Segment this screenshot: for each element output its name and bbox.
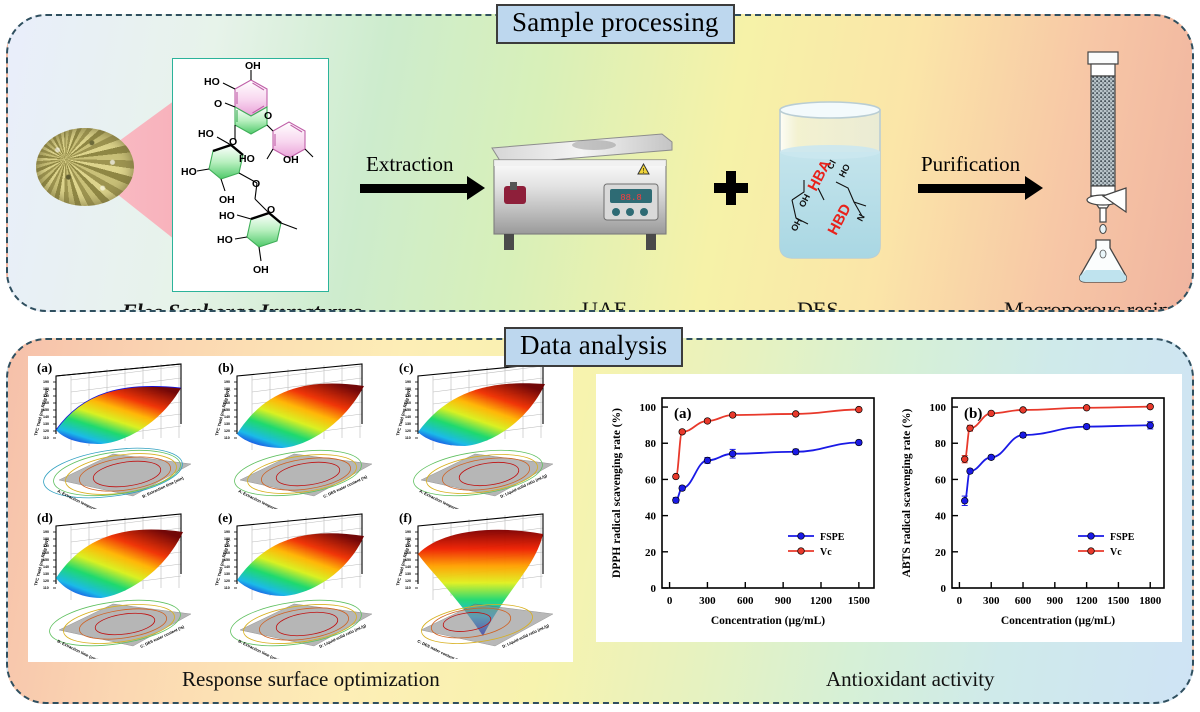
x-tick-label: 600 — [1015, 595, 1032, 607]
data-point — [673, 473, 680, 480]
svg-text:120: 120 — [224, 579, 230, 583]
data-point — [792, 411, 799, 418]
rsm-plot-f: (f) — [393, 508, 571, 659]
data-point — [679, 429, 686, 436]
data-point — [679, 485, 686, 492]
data-point — [1147, 403, 1154, 410]
ultrasonic-bath-icon: ! 88.8 — [486, 124, 676, 254]
y-tick-label: 60 — [935, 474, 947, 486]
step-label-uae: UAE — [582, 297, 627, 312]
svg-text:190: 190 — [224, 380, 230, 384]
svg-text:110: 110 — [405, 436, 411, 440]
y-tick-label: 0 — [651, 583, 657, 595]
dpph-chart: 020406080100030060090012001500Concentrat… — [604, 382, 885, 634]
svg-text:140: 140 — [405, 565, 411, 569]
rsm-plot-d: (d) 190180170 160150140 130120110 TFC Yi… — [31, 508, 209, 659]
svg-text:110: 110 — [43, 436, 49, 440]
data-point — [704, 457, 711, 464]
svg-text:130: 130 — [405, 422, 411, 426]
panel-tag: (b) — [964, 406, 982, 422]
svg-text:130: 130 — [43, 422, 49, 426]
legend-label: Vc — [1110, 547, 1122, 558]
legend-label: FSPE — [1110, 532, 1135, 543]
x-tick-label: 300 — [699, 595, 716, 607]
data-point — [1147, 422, 1154, 429]
svg-text:!: ! — [642, 167, 644, 175]
x-tick-label: 0 — [667, 595, 673, 607]
rsm-xlabel-a: A: Extraction temperature (°C) — [57, 488, 111, 509]
rsm-tag-a: (a) — [37, 360, 52, 376]
rsm-xlabel-b: A: Extraction temperature (°C) — [238, 488, 292, 509]
rsm-tag-d: (d) — [37, 510, 53, 526]
data-point — [856, 439, 863, 446]
purification-arrow-label: Purification — [921, 152, 1020, 177]
extraction-arrow-icon — [360, 184, 468, 193]
structure-label: HO — [181, 166, 197, 178]
svg-text:130: 130 — [43, 572, 49, 576]
rsm-xlabel-f: C: DES water content (%) — [417, 638, 463, 659]
graphical-abstract: OH HO O O O HO HO OH O HO OH HO O HO OH — [0, 0, 1200, 712]
plus-icon — [714, 171, 748, 205]
structure-label: O — [214, 98, 222, 110]
y-tick-label: 80 — [645, 438, 657, 450]
rsm-tag-c: (c) — [399, 360, 413, 376]
x-tick-label: 900 — [775, 595, 792, 607]
antioxidant-caption: Antioxidant activity — [826, 667, 995, 692]
x-tick-label: 1800 — [1139, 595, 1162, 607]
rsm-tag-b: (b) — [218, 360, 234, 376]
svg-text:120: 120 — [224, 429, 230, 433]
svg-text:140: 140 — [224, 415, 230, 419]
sample-processing-panel: OH HO O O O HO HO OH O HO OH HO O HO OH — [6, 14, 1194, 312]
structure-label: HO — [219, 210, 235, 222]
svg-text:190: 190 — [224, 530, 230, 534]
abts-chart: 0204060801000300600900120015001800Concen… — [894, 382, 1175, 634]
data-point — [1020, 407, 1027, 414]
chromatography-column-icon — [1060, 48, 1146, 286]
data-point — [961, 497, 968, 504]
svg-text:88.8: 88.8 — [620, 193, 642, 203]
svg-text:130: 130 — [405, 572, 411, 576]
svg-text:110: 110 — [43, 586, 49, 590]
response-surface-card: (a) — [28, 356, 573, 662]
rsm-plot-c: (c) 190180170 160150140 130120110 TFC Yi… — [393, 358, 571, 509]
structure-label: HO — [217, 234, 233, 246]
legend-label: FSPE — [820, 532, 845, 543]
chemical-structure-box: OH HO O O O HO HO OH O HO OH HO O HO OH — [172, 58, 329, 292]
data-point — [792, 448, 799, 455]
step-label-resin: Macroporous resin — [1004, 297, 1170, 312]
structure-label: O — [229, 136, 237, 148]
line-chart-svg: 0204060801000300600900120015001800Concen… — [894, 382, 1175, 634]
svg-text:120: 120 — [405, 579, 411, 583]
structure-label: HO — [198, 128, 214, 140]
x-tick-label: 1200 — [810, 595, 833, 607]
structure-label: OH — [219, 194, 235, 206]
structure-label: OH — [245, 60, 261, 72]
y-tick-label: 20 — [645, 547, 657, 559]
svg-text:120: 120 — [405, 429, 411, 433]
x-axis-title: Concentration (µg/mL) — [1001, 615, 1115, 627]
x-axis-title: Concentration (µg/mL) — [711, 615, 825, 627]
svg-text:120: 120 — [43, 429, 49, 433]
y-tick-label: 40 — [645, 511, 657, 523]
data-point — [856, 406, 863, 413]
x-tick-label: 300 — [983, 595, 1000, 607]
data-point — [729, 450, 736, 457]
svg-text:190: 190 — [43, 380, 49, 384]
beaker-icon: OH OH Cl HO N HBA HBD — [770, 96, 890, 264]
y-tick-label: 40 — [935, 511, 947, 523]
structure-label: O — [264, 110, 272, 122]
panel-tag: (a) — [674, 406, 692, 422]
data-point — [1020, 432, 1027, 439]
svg-text:130: 130 — [224, 422, 230, 426]
data-point — [988, 410, 995, 417]
step-label-des: DES — [797, 297, 839, 312]
y-axis-title: ABTS radical scavenging rate (%) — [901, 409, 913, 578]
structure-label: OH — [253, 264, 269, 276]
antioxidant-card: 020406080100030060090012001500Concentrat… — [596, 374, 1182, 642]
svg-text:110: 110 — [224, 436, 230, 440]
x-tick-label: 1500 — [1107, 595, 1130, 607]
svg-text:140: 140 — [43, 415, 49, 419]
x-tick-label: 1200 — [1076, 595, 1099, 607]
svg-text:140: 140 — [405, 415, 411, 419]
sample-processing-title: Sample processing — [496, 4, 735, 44]
y-tick-label: 80 — [935, 438, 947, 450]
svg-text:110: 110 — [405, 586, 411, 590]
svg-text:120: 120 — [43, 579, 49, 583]
rsm-caption: Response surface optimization — [182, 667, 440, 692]
x-tick-label: 1500 — [848, 595, 871, 607]
data-point — [967, 425, 974, 432]
svg-text:140: 140 — [224, 565, 230, 569]
data-point — [729, 412, 736, 419]
y-tick-label: 100 — [930, 402, 947, 414]
extraction-arrow-label: Extraction — [366, 152, 453, 177]
svg-text:190: 190 — [43, 530, 49, 534]
line-chart-svg: 020406080100030060090012001500Concentrat… — [604, 382, 885, 634]
data-point — [988, 454, 995, 461]
structure-label: O — [267, 204, 275, 216]
data-point — [1083, 423, 1090, 430]
x-tick-label: 600 — [737, 595, 754, 607]
structure-label: OH — [283, 154, 299, 166]
rsm-tag-e: (e) — [218, 510, 232, 526]
data-analysis-title: Data analysis — [504, 327, 683, 367]
purification-arrow-icon — [918, 184, 1026, 193]
y-tick-label: 100 — [640, 402, 657, 414]
data-point — [967, 468, 974, 475]
data-point — [1083, 404, 1090, 411]
svg-text:190: 190 — [405, 530, 411, 534]
rsm-plot-e: (e) 190180170 160150140 130120110 TFC Yi… — [212, 508, 390, 659]
y-tick-label: 0 — [941, 583, 947, 595]
structure-label: O — [252, 178, 260, 190]
powder-blob-icon — [36, 128, 134, 206]
svg-text:190: 190 — [405, 380, 411, 384]
rsm-xlabel-c: A: Extraction temperature (°C) — [419, 488, 473, 509]
step-label-flos: Flos Sophorae Immaturus — [122, 299, 362, 312]
data-point — [673, 497, 680, 504]
x-tick-label: 900 — [1047, 595, 1064, 607]
y-tick-label: 60 — [645, 474, 657, 486]
rsm-tag-f: (f) — [399, 510, 412, 526]
svg-text:110: 110 — [224, 586, 230, 590]
y-axis-title: DPPH radical scavenging rate (%) — [611, 408, 623, 578]
y-tick-label: 20 — [935, 547, 947, 559]
svg-text:130: 130 — [224, 572, 230, 576]
rsm-plot-b: (b) 190180170 160150140 130120110 TFC Yi… — [212, 358, 390, 509]
x-tick-label: 0 — [957, 595, 963, 607]
svg-text:140: 140 — [43, 565, 49, 569]
rsm-plot-a: (a) — [31, 358, 209, 509]
legend-label: Vc — [820, 547, 832, 558]
data-point — [961, 456, 968, 463]
structure-label: HO — [204, 76, 220, 88]
data-point — [704, 418, 711, 425]
structure-label: HO — [239, 153, 255, 165]
